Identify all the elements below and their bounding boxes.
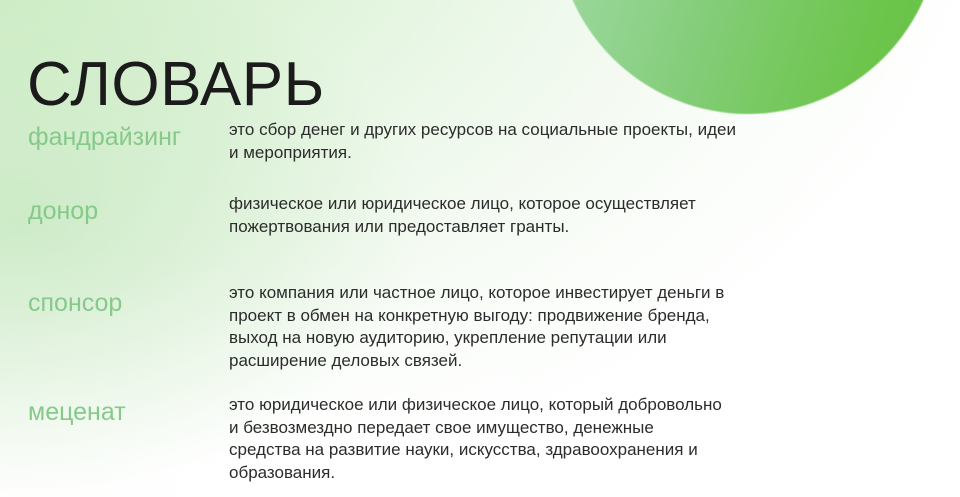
definition-line: выход на новую аудиторию, укрепление реп… — [229, 327, 869, 350]
glossary-definition: это сбор денег и других ресурсов на соци… — [229, 119, 869, 164]
definition-line: это компания или частное лицо, которое и… — [229, 282, 869, 305]
definition-line: пожертвования или предоставляет гранты. — [229, 216, 869, 239]
glossary-term: донор — [28, 196, 224, 226]
page-title: СЛОВАРЬ — [27, 50, 325, 119]
glossary-definition: это компания или частное лицо, которое и… — [229, 282, 869, 372]
definition-line: физическое или юридическое лицо, которое… — [229, 193, 869, 216]
definition-line: расширение деловых связей. — [229, 350, 869, 373]
definition-line: и мероприятия. — [229, 142, 869, 165]
glossary-term: фандрайзинг — [28, 122, 224, 152]
definition-line: и безвозмездно передает свое имущество, … — [229, 417, 869, 440]
green-circle-decoration — [556, 0, 940, 114]
definition-line: образования. — [229, 462, 869, 485]
glossary-term: спонсор — [28, 288, 224, 318]
definition-line: это сбор денег и других ресурсов на соци… — [229, 119, 869, 142]
definition-line: это юридическое или физическое лицо, кот… — [229, 394, 869, 417]
glossary-definition: это юридическое или физическое лицо, кот… — [229, 394, 869, 484]
glossary-term: меценат — [28, 397, 224, 427]
definition-line: проект в обмен на конкретную выгоду: про… — [229, 305, 869, 328]
glossary-definition: физическое или юридическое лицо, которое… — [229, 193, 869, 238]
definition-line: средства на развитие науки, искусства, з… — [229, 439, 869, 462]
slide-canvas: СЛОВАРЬ фандрайзинг это сбор денег и дру… — [0, 0, 960, 497]
